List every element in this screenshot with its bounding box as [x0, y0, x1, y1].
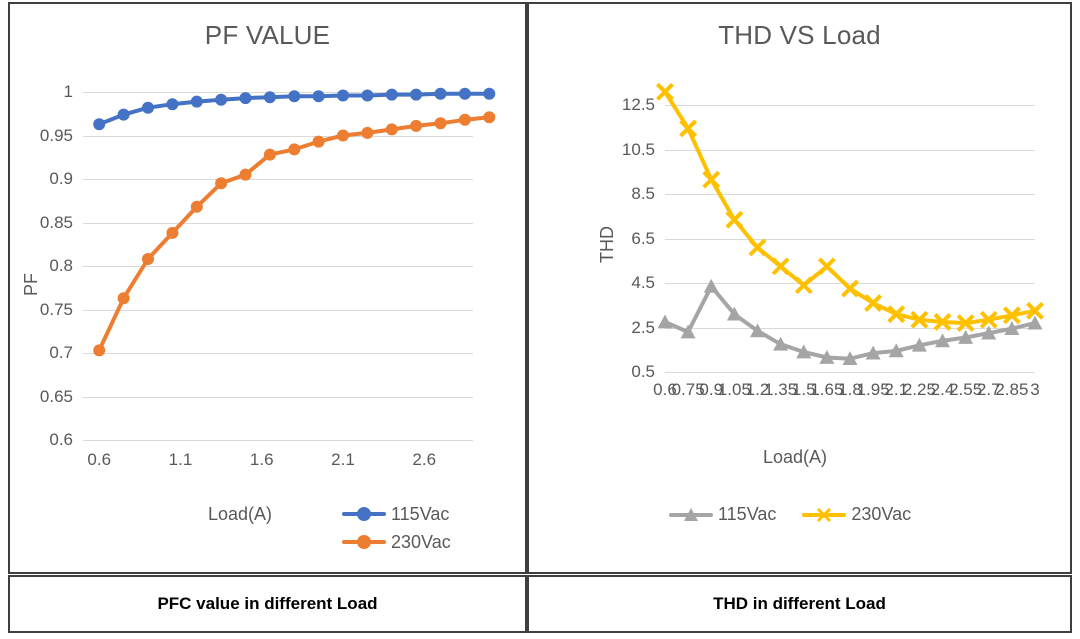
data-point-marker: [361, 127, 373, 139]
data-point-marker: [166, 98, 178, 110]
data-point-marker: [483, 111, 495, 123]
chart-cell-pf: PF VALUE PF 10.950.90.850.80.750.70.650.…: [8, 2, 527, 574]
data-point-marker: [288, 90, 300, 102]
data-point-marker: [727, 212, 742, 227]
gridline: [83, 440, 473, 441]
x-axis-tick-label: 0.6: [87, 450, 111, 470]
x-axis-tick-label: 1.6: [250, 450, 274, 470]
legend-label-115vac: 115Vac: [391, 504, 449, 525]
legend-label-230vac: 230Vac: [391, 532, 451, 553]
legend-item-230vac[interactable]: 230Vac: [342, 528, 451, 556]
x-axis-tick-label: 2.85: [995, 380, 1028, 400]
chart-title-thd: THD VS Load: [529, 20, 1070, 51]
x-axis-tick-label: 2.6: [412, 450, 436, 470]
series-layer: [665, 94, 1035, 372]
legend-item-230vac[interactable]: 230Vac: [802, 504, 911, 525]
data-point-marker: [435, 117, 447, 129]
chart-row: PF VALUE PF 10.950.90.850.80.750.70.650.…: [8, 2, 1072, 574]
y-axis-tick-label: 0.65: [3, 387, 73, 407]
data-point-marker: [166, 227, 178, 239]
plot-area-thd: 12.510.58.56.54.52.50.50.60.750.91.051.2…: [665, 94, 1035, 372]
x-axis-tick-label: 2.1: [331, 450, 355, 470]
legend-key-115vac-icon: [669, 507, 713, 523]
caption-row: PFC value in different Load THD in diffe…: [8, 575, 1072, 633]
y-axis-title-pf: PF: [21, 273, 42, 296]
data-point-marker: [773, 337, 788, 351]
legend-key-230vac-icon: [802, 507, 846, 523]
data-point-marker: [410, 89, 422, 101]
figure-page: PF VALUE PF 10.950.90.850.80.750.70.650.…: [0, 0, 1080, 639]
y-axis-tick-label: 2.5: [585, 318, 655, 338]
data-point-marker: [191, 96, 203, 108]
gridline: [665, 372, 1035, 373]
data-point-marker: [313, 90, 325, 102]
chart-cell-thd: THD VS Load THD 12.510.58.56.54.52.50.50…: [527, 2, 1072, 574]
data-point-marker: [681, 121, 696, 136]
data-point-marker: [240, 92, 252, 104]
y-axis-tick-label: 0.7: [3, 343, 73, 363]
legend-label-115vac: 115Vac: [718, 504, 776, 525]
chart-title-pf: PF VALUE: [10, 20, 525, 51]
y-axis-tick-label: 10.5: [585, 140, 655, 160]
legend-key-230vac-icon: [342, 534, 386, 550]
legend-thd[interactable]: 115Vac 230Vac: [669, 504, 937, 525]
data-point-marker: [704, 172, 719, 187]
y-axis-tick-label: 0.6: [3, 430, 73, 450]
legend-label-230vac: 230Vac: [851, 504, 911, 525]
y-axis-tick-label: 0.9: [3, 169, 73, 189]
x-axis-title-pf: Load(A): [208, 504, 272, 525]
data-point-marker: [337, 130, 349, 142]
y-axis-tick-label: 4.5: [585, 273, 655, 293]
data-point-marker: [704, 279, 719, 293]
data-point-marker: [240, 169, 252, 181]
data-point-marker: [866, 296, 881, 311]
caption-thd: THD in different Load: [527, 575, 1072, 633]
y-axis-tick-label: 1: [3, 82, 73, 102]
data-point-marker: [215, 177, 227, 189]
data-point-marker: [215, 94, 227, 106]
data-point-marker: [118, 292, 130, 304]
y-axis-tick-label: 12.5: [585, 95, 655, 115]
data-point-marker: [658, 314, 673, 328]
data-point-marker: [142, 102, 154, 114]
legend-key-115vac-icon: [342, 506, 386, 522]
data-point-marker: [435, 88, 447, 100]
y-axis-tick-label: 6.5: [585, 229, 655, 249]
data-point-marker: [191, 201, 203, 213]
data-point-marker: [773, 259, 788, 274]
data-point-marker: [361, 90, 373, 102]
data-point-marker: [819, 259, 834, 274]
plot-area-pf: 10.950.90.850.80.750.70.650.60.61.11.62.…: [83, 92, 473, 440]
y-axis-tick-label: 8.5: [585, 184, 655, 204]
y-axis-tick-label: 0.85: [3, 213, 73, 233]
y-axis-tick-label: 0.5: [585, 362, 655, 382]
caption-pf: PFC value in different Load: [8, 575, 527, 633]
y-axis-tick-label: 0.8: [3, 256, 73, 276]
x-axis-tick-label: 1.1: [169, 450, 193, 470]
data-point-marker: [142, 253, 154, 265]
data-point-marker: [288, 143, 300, 155]
data-point-marker: [483, 88, 495, 100]
data-point-marker: [264, 149, 276, 161]
x-axis-title-thd: Load(A): [763, 447, 827, 468]
data-point-marker: [843, 281, 858, 296]
data-point-marker: [410, 120, 422, 132]
data-point-marker: [459, 114, 471, 126]
data-point-marker: [386, 89, 398, 101]
data-point-marker: [93, 344, 105, 356]
legend-item-115vac[interactable]: 115Vac: [342, 500, 451, 528]
x-axis-tick-label: 3: [1030, 380, 1039, 400]
figure-table: PF VALUE PF 10.950.90.850.80.750.70.650.…: [8, 2, 1072, 635]
legend-item-115vac[interactable]: 115Vac: [669, 504, 776, 525]
data-point-marker: [93, 118, 105, 130]
data-point-marker: [796, 278, 811, 293]
data-point-marker: [264, 91, 276, 103]
data-point-marker: [750, 240, 765, 255]
y-axis-tick-label: 0.75: [3, 300, 73, 320]
data-point-marker: [658, 84, 673, 99]
y-axis-tick-label: 0.95: [3, 126, 73, 146]
data-point-marker: [337, 90, 349, 102]
data-point-marker: [118, 109, 130, 121]
data-point-marker: [386, 123, 398, 135]
data-point-marker: [313, 136, 325, 148]
data-point-marker: [459, 88, 471, 100]
series-layer: [83, 92, 473, 440]
legend-pf[interactable]: 115Vac 230Vac: [342, 500, 451, 556]
